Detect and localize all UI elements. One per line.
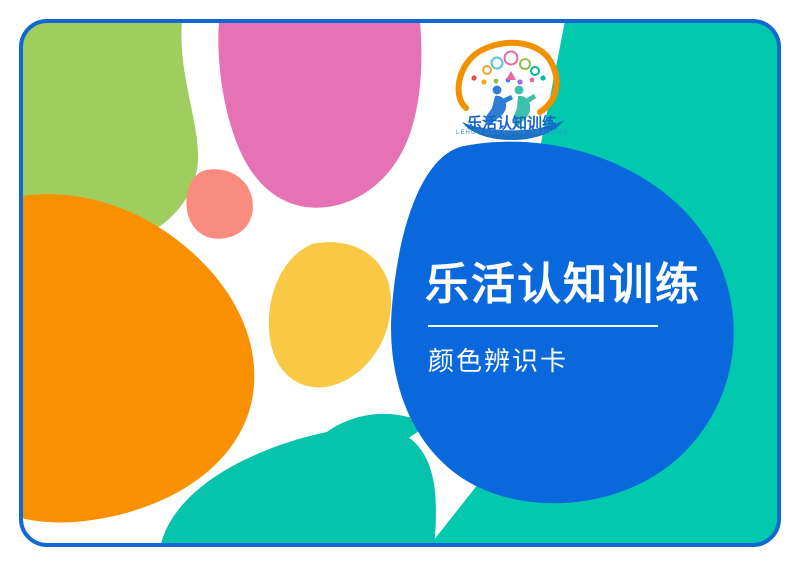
color-recognition-card: 乐活认知训练 LEHUO COGNITIVE TRAINING 乐活认知训练 颜… (0, 0, 800, 569)
logo-name-en: LEHUO COGNITIVE TRAINING (452, 130, 572, 136)
card-artwork-canvas (0, 0, 800, 569)
brand-logo-wordmark: 乐活认知训练 LEHUO COGNITIVE TRAINING (452, 36, 572, 141)
